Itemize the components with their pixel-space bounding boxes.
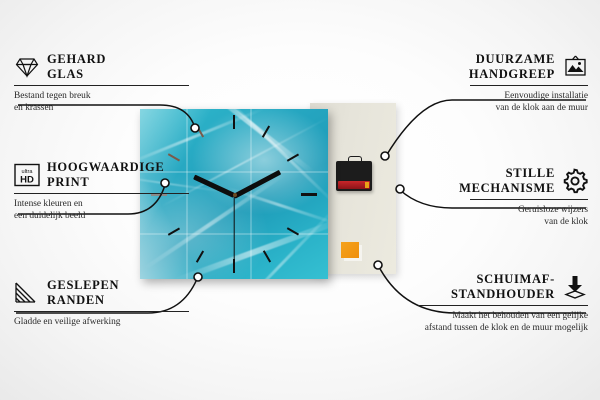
divider	[14, 193, 189, 194]
connector-dot-stille-mechanisme	[396, 185, 404, 193]
feature-duurzame-handgreep: DUURZAME HANDGREEP Eenvoudige installati…	[470, 52, 588, 114]
feature-title: DUURZAME HANDGREEP	[469, 52, 555, 82]
feature-description: Eenvoudige installatie van de klok aan d…	[470, 90, 588, 115]
feature-hoogwaardige-print: ultra HD HOOGWAARDIGE PRINT Intense kleu…	[14, 160, 189, 222]
feature-description: Geruisloze wijzers van de klok	[470, 204, 588, 229]
diamond-icon	[14, 54, 40, 80]
battery	[338, 181, 370, 189]
clock-mechanism	[336, 161, 372, 191]
mechanism-hook-icon	[348, 156, 362, 163]
foam-spacer	[341, 242, 359, 258]
feature-description: Bestand tegen breuk en krassen	[14, 90, 189, 115]
feature-title: HOOGWAARDIGE PRINT	[47, 160, 164, 190]
divider	[470, 85, 588, 86]
feature-gehard-glas: GEHARD GLAS Bestand tegen breuk en krass…	[14, 52, 189, 114]
divider	[14, 311, 189, 312]
second-hand	[233, 195, 234, 261]
feature-schuimafstandhouder: SCHUIMAF- STANDHOUDER Maakt het behouden…	[418, 272, 588, 334]
hour-tick-5	[263, 250, 271, 262]
feature-geslepen-randen: GESLEPEN RANDEN Gladde en veilige afwerk…	[14, 278, 189, 328]
feature-description: Intense kleuren en een duidelijk beeld	[14, 198, 189, 223]
battery-terminal	[365, 182, 369, 188]
clock-pivot	[233, 193, 237, 197]
feature-description: Gladde en veilige afwerking	[14, 316, 189, 328]
infographic-canvas: GEHARD GLAS Bestand tegen breuk en krass…	[0, 0, 600, 400]
gear-icon	[562, 168, 588, 194]
divider	[418, 305, 588, 306]
hour-tick-3	[301, 193, 317, 196]
feature-title: STILLE MECHANISME	[459, 166, 555, 196]
hour-tick-12	[233, 115, 235, 129]
down-arrow-spacer-icon	[562, 274, 588, 300]
feature-title: SCHUIMAF- STANDHOUDER	[451, 272, 555, 302]
hour-tick-6	[233, 259, 235, 273]
divider	[470, 199, 588, 200]
ultra-hd-icon: ultra HD	[14, 162, 40, 188]
feature-title: GEHARD GLAS	[47, 52, 106, 82]
feature-stille-mechanisme: STILLE MECHANISME Geruisloze wijzers van…	[470, 166, 588, 228]
svg-text:HD: HD	[20, 174, 34, 185]
hatched-edge-icon	[14, 280, 40, 306]
divider	[14, 85, 189, 86]
feature-description: Maakt het behouden van een gelijke afsta…	[418, 310, 588, 335]
hour-tick-7	[196, 250, 204, 262]
feature-title: GESLEPEN RANDEN	[47, 278, 119, 308]
framed-picture-icon	[562, 54, 588, 80]
